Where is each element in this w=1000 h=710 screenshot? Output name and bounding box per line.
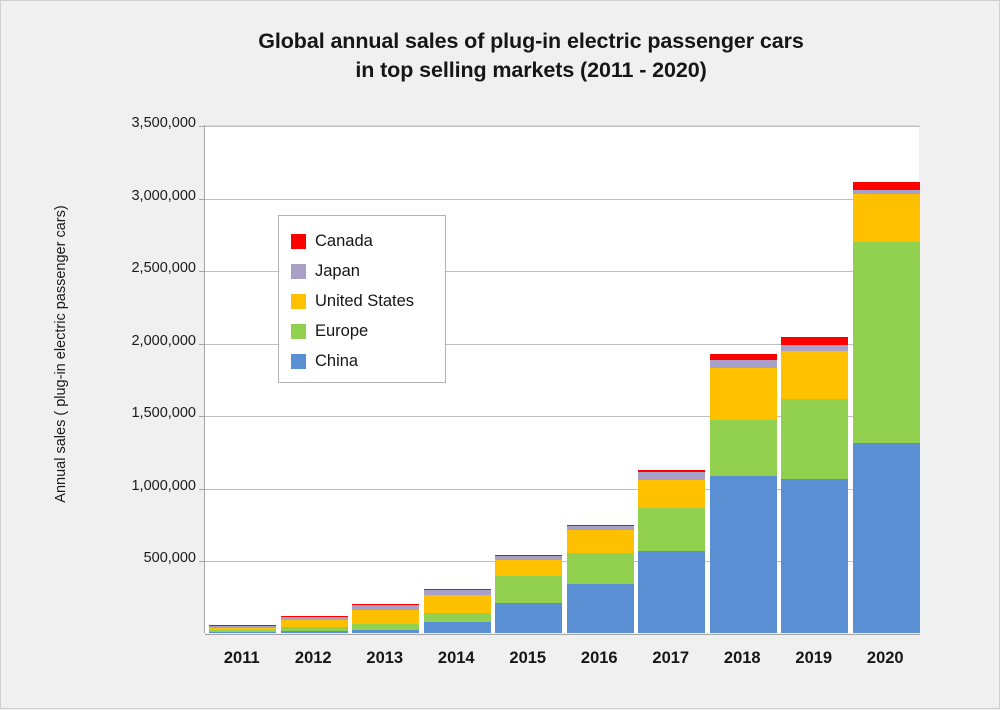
bar-segment-europe[interactable] <box>781 399 848 479</box>
bar-segment-canada[interactable] <box>781 337 848 345</box>
bar-segment-japan[interactable] <box>424 590 491 595</box>
chart-title-line-1: Global annual sales of plug-in electric … <box>258 29 803 53</box>
bar-segment-europe[interactable] <box>638 508 705 550</box>
bar-segment-china[interactable] <box>710 476 777 633</box>
bar-2020[interactable] <box>853 125 920 633</box>
bar-segment-united-states[interactable] <box>710 368 777 420</box>
bar-segment-japan[interactable] <box>281 617 348 619</box>
chart-title: Global annual sales of plug-in electric … <box>151 27 911 85</box>
y-axis-tick-label: 3,000,000 <box>86 188 196 204</box>
bar-segment-united-states[interactable] <box>781 351 848 399</box>
y-axis-tick-label: 3,500,000 <box>86 115 196 131</box>
bar-2019[interactable] <box>781 125 848 633</box>
bar-segment-united-states[interactable] <box>352 610 419 624</box>
bar-segment-united-states[interactable] <box>853 194 920 242</box>
bar-2016[interactable] <box>567 125 634 633</box>
bar-segment-japan[interactable] <box>352 605 419 609</box>
chart-frame: Global annual sales of plug-in electric … <box>0 0 1000 709</box>
bar-segment-united-states[interactable] <box>495 560 562 577</box>
bar-segment-japan[interactable] <box>853 190 920 194</box>
y-axis-tick <box>199 489 205 490</box>
y-axis-tick-label: 2,000,000 <box>86 333 196 349</box>
bar-segment-canada[interactable] <box>853 182 920 190</box>
legend-label: Canada <box>315 232 373 251</box>
bar-segment-europe[interactable] <box>853 242 920 444</box>
bar-segment-canada[interactable] <box>495 555 562 556</box>
bar-segment-canada[interactable] <box>281 616 348 617</box>
legend-label: Japan <box>315 262 360 281</box>
bar-segment-japan[interactable] <box>710 360 777 368</box>
legend-item-japan[interactable]: Japan <box>291 256 445 286</box>
bar-segment-china[interactable] <box>853 443 920 633</box>
bar-segment-china[interactable] <box>781 479 848 633</box>
bar-segment-canada[interactable] <box>424 589 491 590</box>
bar-segment-japan[interactable] <box>638 472 705 480</box>
legend-label: Europe <box>315 322 368 341</box>
bar-segment-china[interactable] <box>638 551 705 633</box>
bar-segment-canada[interactable] <box>710 354 777 360</box>
axis-baseline <box>205 634 920 635</box>
legend-label: United States <box>315 292 414 311</box>
bar-segment-japan[interactable] <box>209 626 276 628</box>
chart-title-line-2: in top selling markets (2011 - 2020) <box>151 56 911 85</box>
bar-segment-europe[interactable] <box>567 553 634 584</box>
bar-segment-canada[interactable] <box>638 470 705 472</box>
y-axis-tick <box>199 271 205 272</box>
y-axis-tick <box>199 199 205 200</box>
legend-label: China <box>315 352 358 371</box>
bar-segment-china[interactable] <box>567 584 634 633</box>
bar-2018[interactable] <box>710 125 777 633</box>
chart-legend: CanadaJapanUnited StatesEuropeChina <box>278 215 446 383</box>
legend-swatch-icon <box>291 324 306 339</box>
legend-item-china[interactable]: China <box>291 346 445 376</box>
y-axis-title: Annual sales ( plug-in electric passenge… <box>53 144 69 564</box>
legend-swatch-icon <box>291 294 306 309</box>
bar-segment-japan[interactable] <box>567 526 634 529</box>
y-axis-tick-label: 500,000 <box>86 550 196 566</box>
bar-segment-canada[interactable] <box>209 625 276 626</box>
bar-segment-united-states[interactable] <box>281 620 348 628</box>
bar-segment-united-states[interactable] <box>424 595 491 613</box>
legend-item-europe[interactable]: Europe <box>291 316 445 346</box>
bar-segment-europe[interactable] <box>710 420 777 476</box>
bar-segment-europe[interactable] <box>495 576 562 603</box>
legend-swatch-icon <box>291 354 306 369</box>
y-axis-tick-label: 2,500,000 <box>86 260 196 276</box>
legend-swatch-icon <box>291 234 306 249</box>
bar-segment-europe[interactable] <box>209 630 276 632</box>
bar-segment-canada[interactable] <box>567 525 634 527</box>
bar-segment-japan[interactable] <box>495 556 562 560</box>
bar-segment-europe[interactable] <box>424 613 491 623</box>
y-axis-tick <box>199 126 205 127</box>
legend-item-canada[interactable]: Canada <box>291 226 445 256</box>
bar-segment-china[interactable] <box>424 622 491 633</box>
legend-item-united-states[interactable]: United States <box>291 286 445 316</box>
bar-segment-united-states[interactable] <box>567 530 634 553</box>
bar-segment-canada[interactable] <box>352 604 419 605</box>
bar-2011[interactable] <box>209 125 276 633</box>
y-axis-tick <box>199 344 205 345</box>
bar-segment-united-states[interactable] <box>209 628 276 631</box>
bar-2017[interactable] <box>638 125 705 633</box>
bar-segment-europe[interactable] <box>281 627 348 631</box>
y-axis-tick-label: 1,500,000 <box>86 405 196 421</box>
bar-segment-china[interactable] <box>495 603 562 633</box>
bar-segment-china[interactable] <box>281 631 348 633</box>
bar-segment-europe[interactable] <box>352 624 419 631</box>
legend-swatch-icon <box>291 264 306 279</box>
y-axis-tick <box>199 416 205 417</box>
y-axis-tick-label: 1,000,000 <box>86 478 196 494</box>
bar-segment-japan[interactable] <box>781 345 848 351</box>
y-axis-tick <box>199 561 205 562</box>
bar-2015[interactable] <box>495 125 562 633</box>
bar-segment-china[interactable] <box>352 630 419 633</box>
bar-segment-united-states[interactable] <box>638 480 705 508</box>
x-axis-label-2020: 2020 <box>840 649 930 668</box>
